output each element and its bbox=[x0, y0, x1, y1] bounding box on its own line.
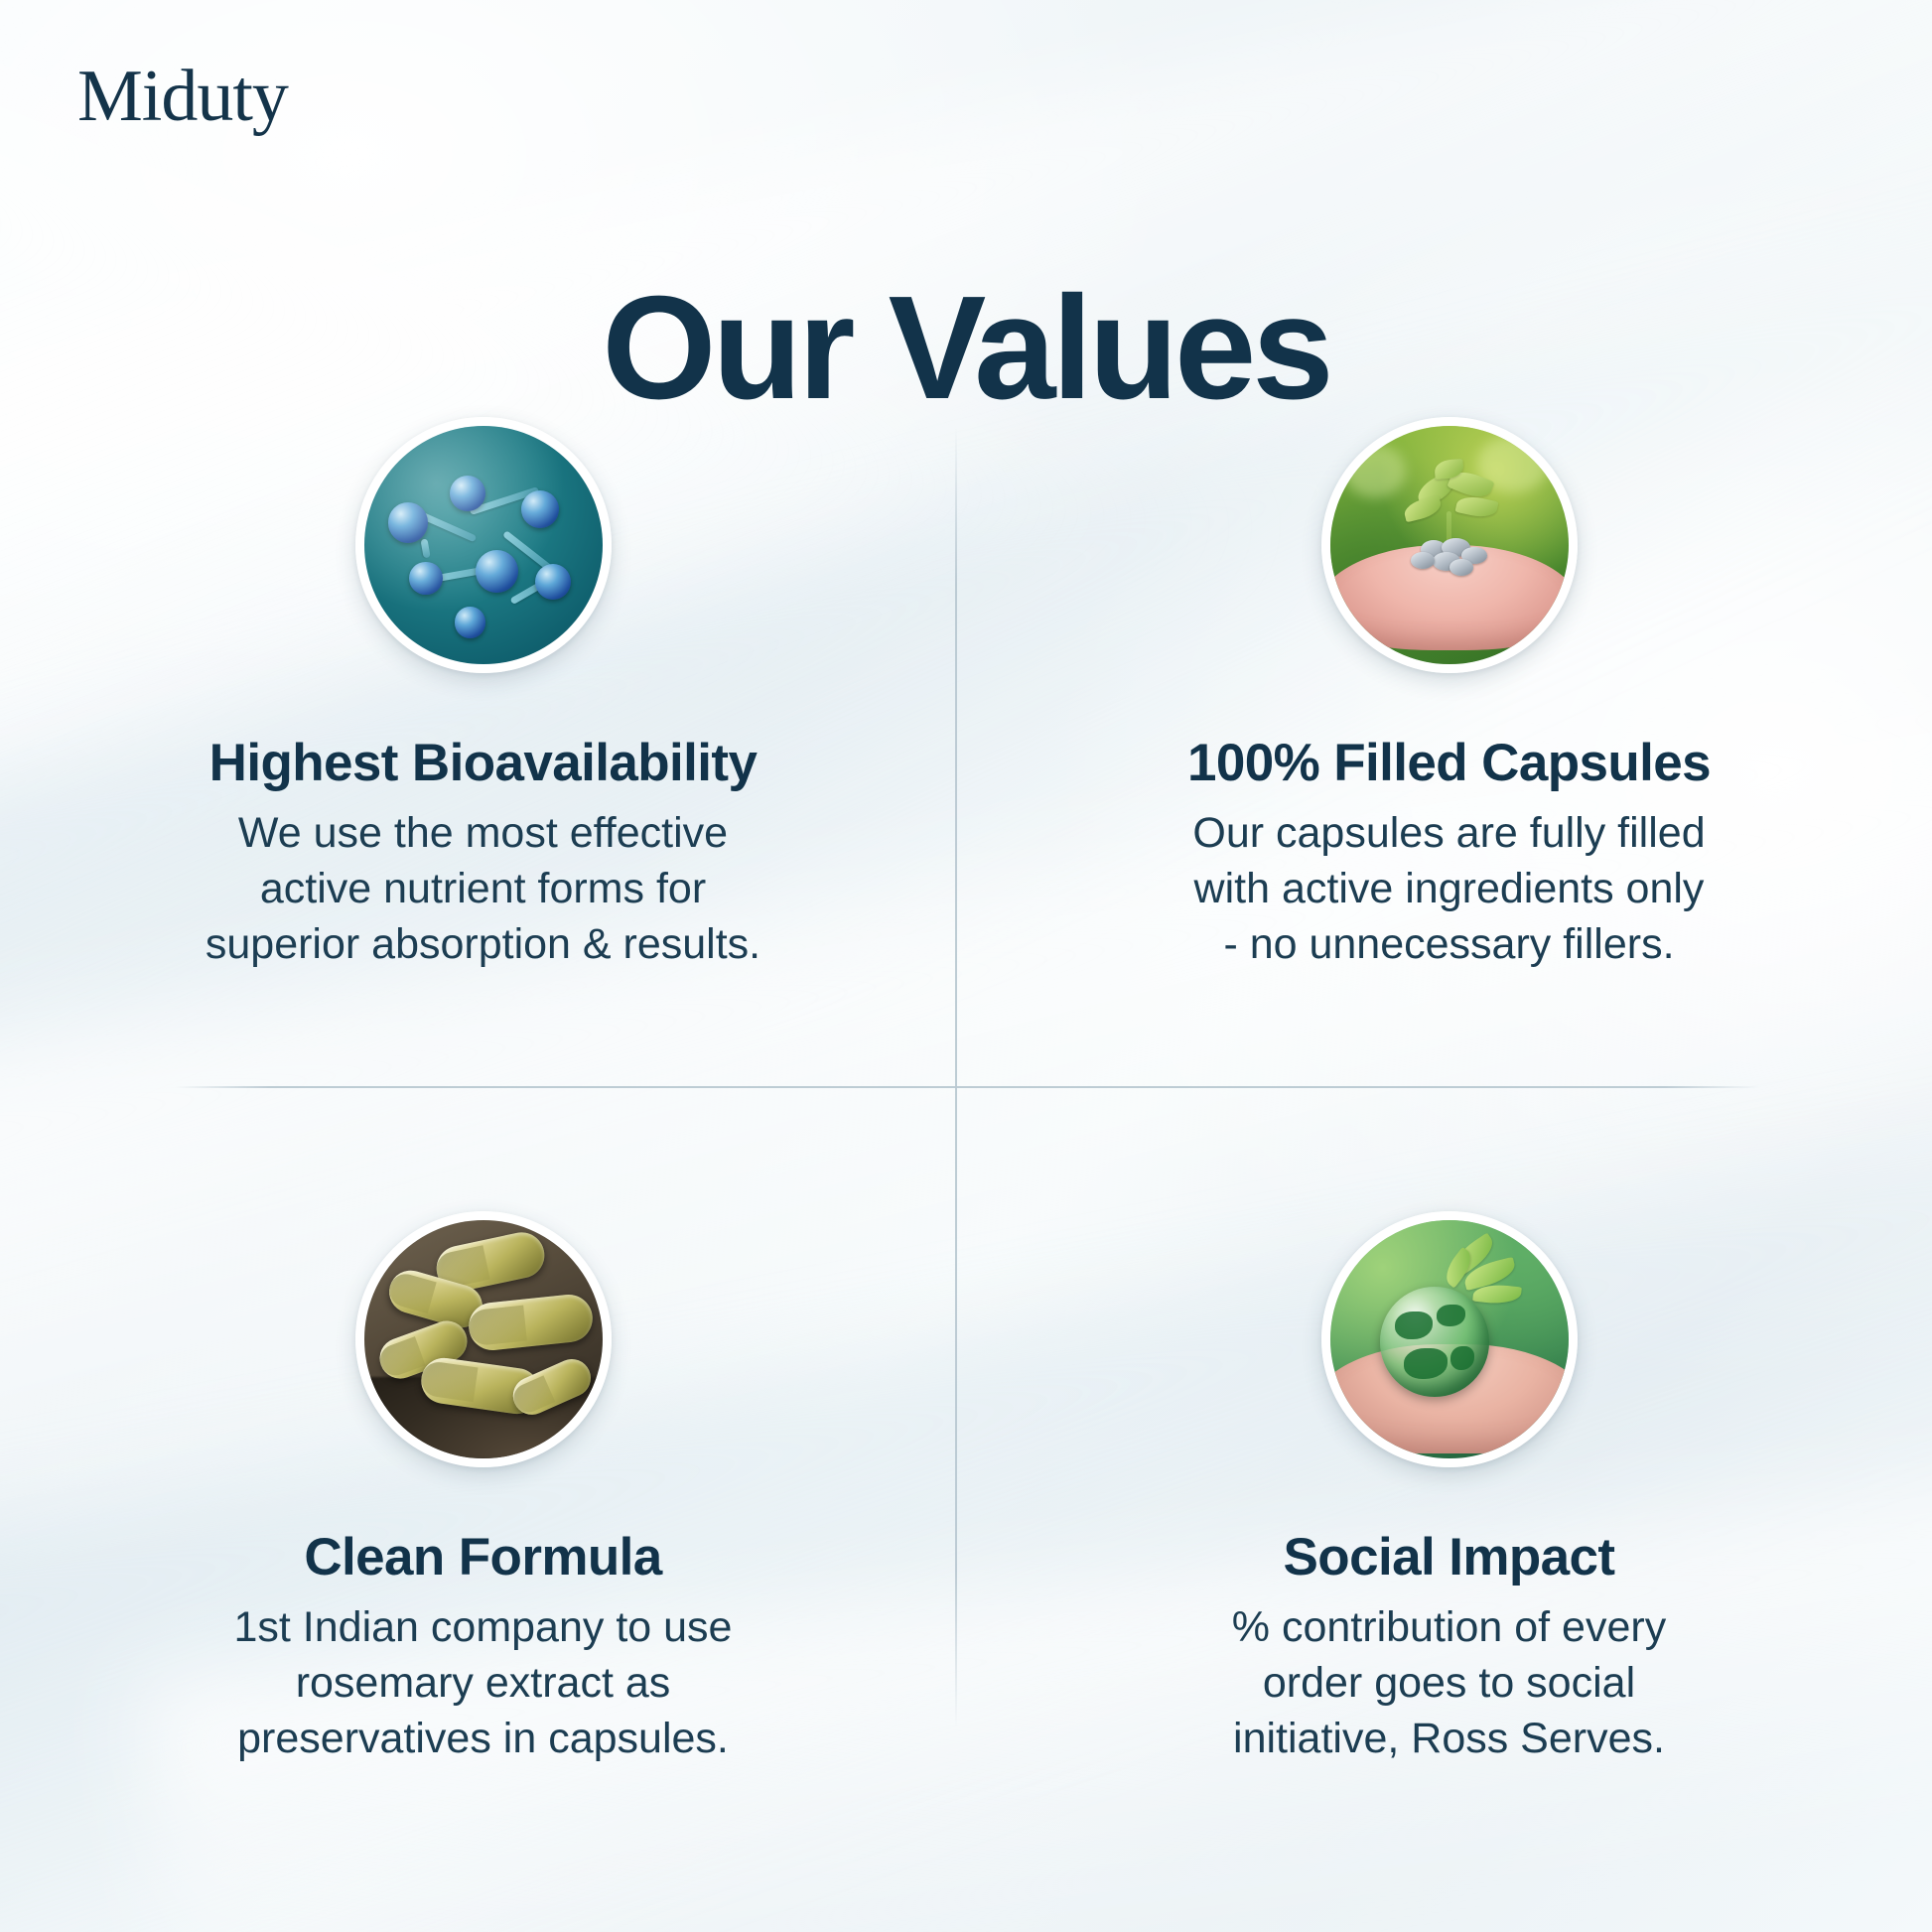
olive-capsules-image bbox=[355, 1211, 612, 1467]
value-title: Highest Bioavailability bbox=[209, 735, 758, 792]
brand-logo: Miduty bbox=[77, 60, 288, 133]
value-description: We use the most effective active nutrien… bbox=[206, 806, 760, 973]
values-grid: Highest Bioavailability We use the most … bbox=[0, 417, 1932, 1767]
value-title: 100% Filled Capsules bbox=[1187, 735, 1711, 792]
value-title: Social Impact bbox=[1284, 1529, 1615, 1587]
value-description-line: Our capsules are fully filled bbox=[1192, 806, 1705, 862]
value-description-line: % contribution of every bbox=[1232, 1600, 1666, 1656]
value-card-clean-formula: Clean Formula 1st Indian company to use … bbox=[0, 1078, 966, 1767]
molecule-structure-image bbox=[355, 417, 612, 673]
value-description-line: 1st Indian company to use bbox=[234, 1600, 733, 1656]
value-description-line: We use the most effective bbox=[206, 806, 760, 862]
value-card-filled-capsules: 100% Filled Capsules Our capsules are fu… bbox=[966, 417, 1932, 1078]
value-description-line: order goes to social bbox=[1232, 1656, 1666, 1712]
value-card-highest-bioavailability: Highest Bioavailability We use the most … bbox=[0, 417, 966, 1078]
value-description-line: rosemary extract as bbox=[234, 1656, 733, 1712]
value-title: Clean Formula bbox=[304, 1529, 661, 1587]
hand-seedling-coins-image bbox=[1321, 417, 1578, 673]
page-title: Our Values bbox=[0, 275, 1932, 422]
value-description-line: preservatives in capsules. bbox=[234, 1712, 733, 1767]
green-globe-hands-image bbox=[1321, 1211, 1578, 1467]
value-description-line: with active ingredients only bbox=[1192, 862, 1705, 917]
value-description-line: initiative, Ross Serves. bbox=[1232, 1712, 1666, 1767]
value-description: % contribution of every order goes to so… bbox=[1232, 1600, 1666, 1767]
value-description: 1st Indian company to use rosemary extra… bbox=[234, 1600, 733, 1767]
poster-canvas: Miduty Our Values bbox=[0, 0, 1932, 1932]
value-description-line: - no unnecessary fillers. bbox=[1192, 917, 1705, 973]
value-description: Our capsules are fully filled with activ… bbox=[1192, 806, 1705, 973]
value-description-line: active nutrient forms for bbox=[206, 862, 760, 917]
value-card-social-impact: Social Impact % contribution of every or… bbox=[966, 1078, 1932, 1767]
value-description-line: superior absorption & results. bbox=[206, 917, 760, 973]
